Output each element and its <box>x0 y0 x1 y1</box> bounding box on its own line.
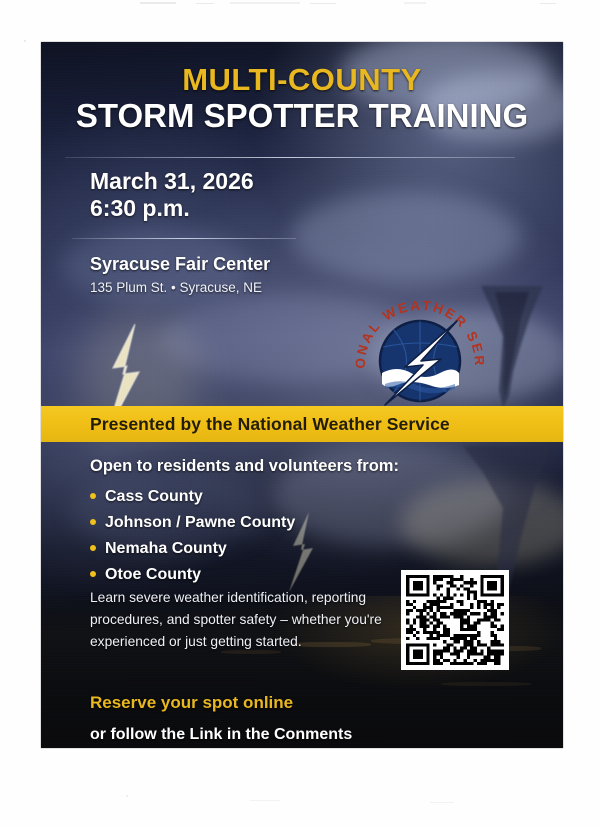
audience-label: Open to residents and volunteers from: <box>90 457 399 476</box>
cta-primary-text: Reserve your spot online <box>90 692 352 714</box>
list-item: Johnson / Pawne County <box>90 510 295 536</box>
event-venue: Syracuse Fair Center 135 Plum St. • Syra… <box>90 253 270 296</box>
event-date: March 31, 2026 <box>90 168 254 195</box>
description-paragraph: Learn severe weather identification, rep… <box>90 587 390 652</box>
storm-spotter-training-poster: MULTI-COUNTY STORM SPOTTER TRAINING Marc… <box>41 42 563 748</box>
qr-code-image <box>406 575 504 665</box>
bullet-dot-icon <box>90 493 96 499</box>
county-name: Otoe County <box>105 566 201 583</box>
list-item: Nemaha County <box>90 536 295 562</box>
scan-artifact <box>404 2 426 4</box>
bullet-dot-icon <box>90 571 96 577</box>
scan-artifact <box>126 795 128 797</box>
scanned-page: MULTI-COUNTY STORM SPOTTER TRAINING Marc… <box>0 0 600 826</box>
venue-address: 135 Plum St. • Syracuse, NE <box>90 279 270 297</box>
list-item: Cass County <box>90 484 295 510</box>
venue-name: Syracuse Fair Center <box>90 253 270 276</box>
scan-artifact <box>310 3 336 4</box>
cta-secondary-text: or follow the Link in the Conments <box>90 725 352 746</box>
scan-artifact <box>250 800 280 801</box>
bullet-dot-icon <box>90 519 96 525</box>
scan-artifact <box>140 2 176 4</box>
divider-under-title <box>65 157 515 158</box>
title-line-1: MULTI-COUNTY <box>41 64 563 96</box>
county-name: Cass County <box>105 488 203 505</box>
poster-title: MULTI-COUNTY STORM SPOTTER TRAINING <box>41 64 563 134</box>
event-time: 6:30 p.m. <box>90 195 254 222</box>
divider-under-datetime <box>72 238 296 239</box>
scan-artifact <box>540 3 556 4</box>
event-datetime: March 31, 2026 6:30 p.m. <box>90 168 254 222</box>
call-to-action: Reserve your spot online or follow the L… <box>90 692 352 746</box>
title-line-2: STORM SPOTTER TRAINING <box>41 98 563 134</box>
county-list: Cass County Johnson / Pawne County Nemah… <box>90 484 295 588</box>
county-name: Nemaha County <box>105 540 227 557</box>
registration-qr-code[interactable] <box>401 570 509 670</box>
county-name: Johnson / Pawne County <box>105 514 295 531</box>
list-item: Otoe County <box>90 562 295 588</box>
scan-artifact <box>196 3 214 4</box>
scan-artifact <box>230 2 300 4</box>
scan-artifact <box>430 802 454 803</box>
scan-artifact <box>24 40 26 42</box>
bullet-dot-icon <box>90 545 96 551</box>
presented-by-banner: Presented by the National Weather Servic… <box>41 406 563 442</box>
banner-text: Presented by the National Weather Servic… <box>90 414 450 435</box>
